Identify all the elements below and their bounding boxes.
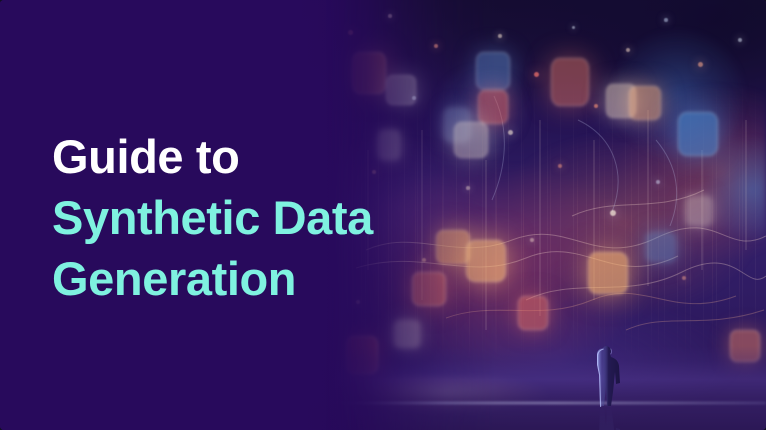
card-blue-lower-right: [646, 232, 676, 262]
card-coral-lower: [518, 296, 548, 330]
card-blue-far-right: [678, 112, 718, 156]
card-amber-right: [629, 86, 661, 120]
sparkle-20: [610, 210, 616, 216]
artwork-horizon-line: [326, 402, 766, 404]
headline-line-3: Generation: [52, 248, 472, 309]
card-blue-upper-mid: [476, 52, 510, 90]
card-cream-upper-left: [386, 75, 416, 105]
card-amber-lower-mid: [588, 252, 628, 294]
headline-block: Guide to Synthetic Data Generation: [52, 126, 472, 309]
sparkle-0: [348, 30, 353, 35]
headline-line-1: Guide to: [52, 126, 472, 187]
artwork-floor: [326, 346, 766, 430]
sparkle-11: [738, 38, 742, 42]
sparkle-14: [558, 164, 562, 168]
card-amber-center-big: [466, 240, 506, 282]
person-silhouette: [584, 340, 628, 408]
sparkle-8: [626, 48, 630, 52]
headline-line-2: Synthetic Data: [52, 187, 472, 248]
hero-banner: Guide to Synthetic Data Generation: [0, 0, 766, 430]
sparkle-9: [664, 18, 668, 22]
card-coral-upper-mid: [478, 90, 508, 124]
sparkle-17: [530, 238, 534, 242]
card-coral-upper-left: [352, 52, 386, 94]
sparkle-2: [434, 44, 438, 48]
card-cream-bottom: [394, 320, 420, 348]
sparkle-10: [698, 62, 703, 67]
sparkle-1: [388, 14, 392, 18]
card-cream-lower-right: [686, 196, 712, 226]
sparkle-4: [498, 34, 502, 38]
card-coral-upper-right: [551, 58, 589, 106]
